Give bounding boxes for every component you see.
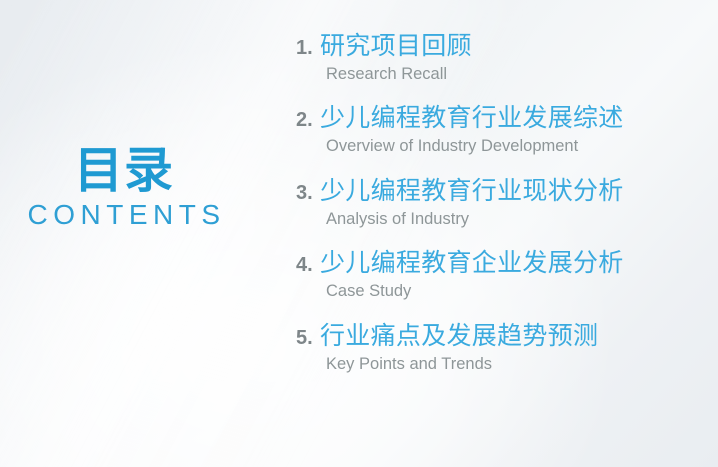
list-item[interactable]: 4. 少儿编程教育企业发展分析 Case Study [296,247,708,302]
toc-entry-heading: 2. 少儿编程教育行业发展综述 [296,102,708,134]
page-title-en: CONTENTS [8,200,240,231]
toc-item-title-cn: 少儿编程教育行业发展综述 [320,102,624,134]
toc-item-title-cn: 行业痛点及发展趋势预测 [320,320,598,352]
toc-item-title-cn: 少儿编程教育行业现状分析 [320,175,624,207]
toc-entry-heading: 5. 行业痛点及发展趋势预测 [296,320,708,352]
list-item[interactable]: 2. 少儿编程教育行业发展综述 Overview of Industry Dev… [296,102,708,157]
slide-canvas: 目录 CONTENTS 1. 研究项目回顾 Research Recall 2.… [0,0,718,467]
slide-title-block: 目录 CONTENTS [8,146,240,231]
toc-item-number: 2. [296,109,320,132]
toc-item-title-cn: 少儿编程教育企业发展分析 [320,247,624,279]
list-item[interactable]: 1. 研究项目回顾 Research Recall [296,30,708,85]
toc-item-subtitle-en: Analysis of Industry [326,209,708,230]
toc-entry-heading: 1. 研究项目回顾 [296,30,708,62]
toc-item-subtitle-en: Research Recall [326,64,708,85]
list-item[interactable]: 5. 行业痛点及发展趋势预测 Key Points and Trends [296,320,708,375]
toc-item-number: 3. [296,182,320,205]
list-item[interactable]: 3. 少儿编程教育行业现状分析 Analysis of Industry [296,175,708,230]
toc-entry-heading: 4. 少儿编程教育企业发展分析 [296,247,708,279]
table-of-contents: 1. 研究项目回顾 Research Recall 2. 少儿编程教育行业发展综… [296,30,708,375]
toc-item-subtitle-en: Overview of Industry Development [326,136,708,157]
toc-item-subtitle-en: Case Study [326,281,708,302]
toc-item-subtitle-en: Key Points and Trends [326,354,708,375]
toc-entry-heading: 3. 少儿编程教育行业现状分析 [296,175,708,207]
toc-item-number: 1. [296,37,320,60]
page-title-cn: 目录 [8,146,240,197]
toc-item-number: 4. [296,254,320,277]
toc-item-number: 5. [296,327,320,350]
toc-item-title-cn: 研究项目回顾 [320,30,472,62]
